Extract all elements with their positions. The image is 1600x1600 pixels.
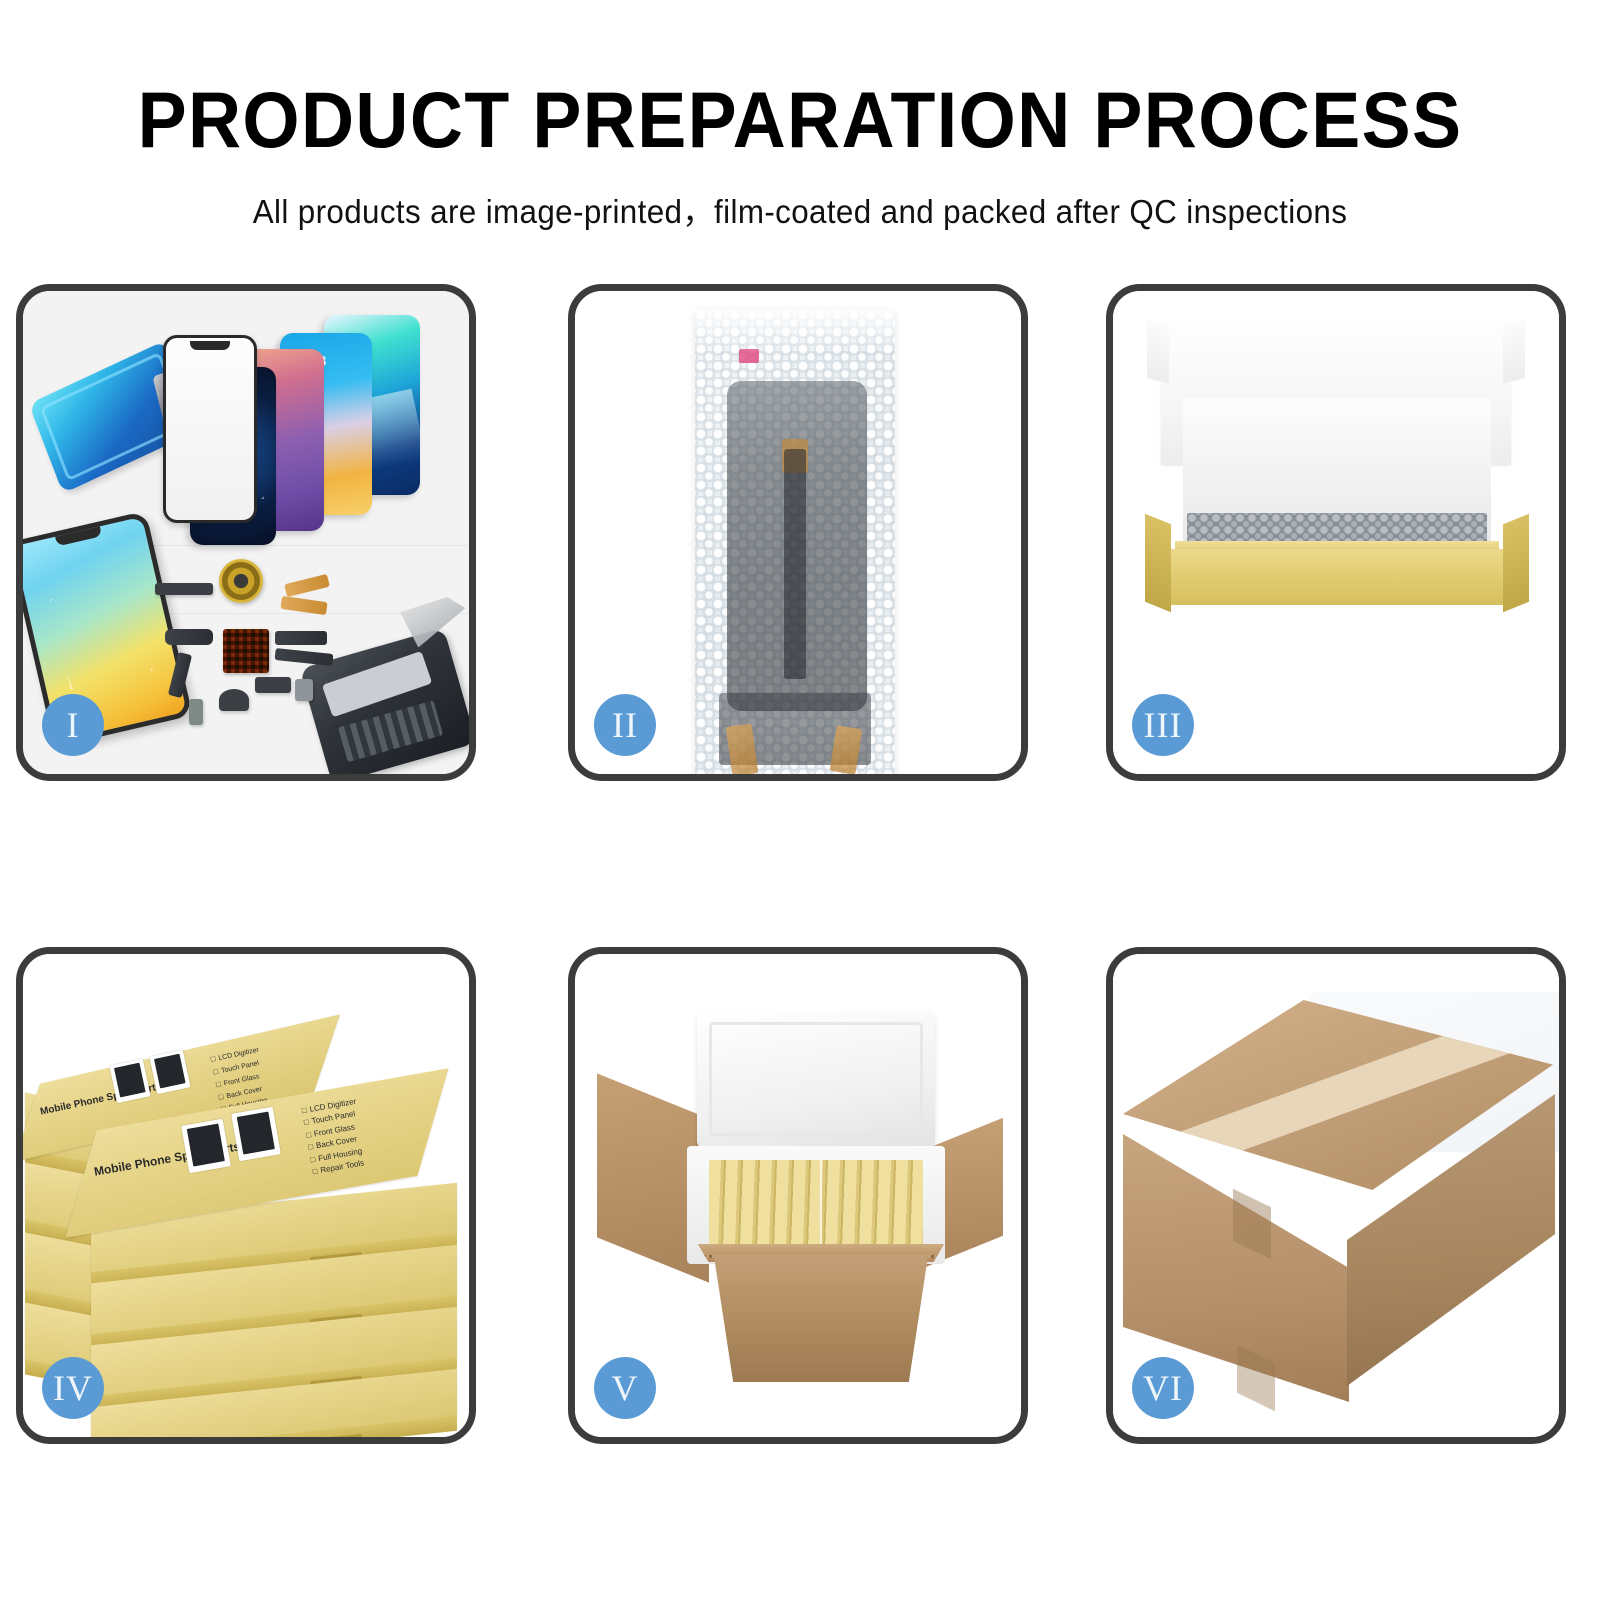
gold-contact-right-icon [830, 725, 863, 774]
plastic-sheen [695, 309, 895, 353]
steps-grid: 08:08 [16, 284, 1586, 1444]
front-glass-icon [163, 335, 257, 523]
notch-icon [190, 341, 230, 350]
box-front-wall-icon [1161, 549, 1513, 605]
power-flex-icon [275, 648, 334, 666]
page-title: PRODUCT PREPARATION PROCESS [56, 0, 1544, 159]
header: PRODUCT PREPARATION PROCESS All products… [0, 0, 1600, 233]
step-badge-4: IV [42, 1357, 104, 1419]
bubble-wrap-bag-icon [695, 309, 895, 774]
step-panel-3: III [1106, 284, 1566, 781]
step-panel-5: V [568, 947, 1028, 1444]
page-subtitle: All products are image-printed，film-coat… [40, 159, 1560, 233]
camera-module-icon [165, 629, 213, 645]
box-thumbnail [181, 1119, 231, 1174]
sim-tray-icon [189, 699, 203, 725]
flex-strip-icon [784, 449, 806, 679]
flex-cable-gold-icon [284, 574, 330, 597]
foam-lid-icon [697, 1012, 935, 1148]
step-panel-1: 08:08 [16, 284, 476, 781]
notch-icon [55, 526, 102, 546]
step-badge-5: V [594, 1357, 656, 1419]
carton-body-icon [699, 1254, 943, 1382]
speaker-bar-icon [155, 583, 213, 595]
back-housing-icon [299, 628, 469, 774]
step-panel-2: II [568, 284, 1028, 781]
step-badge-3: III [1132, 694, 1194, 756]
step-badge-6: VI [1132, 1357, 1194, 1419]
step-badge-2: II [594, 694, 656, 756]
box-thumbnail [231, 1107, 281, 1162]
earpiece-icon [219, 689, 249, 711]
crack-pattern-icon [50, 581, 153, 690]
wireless-charging-coil-icon [219, 559, 263, 603]
volume-flex-icon [275, 631, 327, 645]
packed-gold-boxes-icon [709, 1160, 923, 1248]
product-preparation-infographic: PRODUCT PREPARATION PROCESS All products… [0, 0, 1600, 1600]
step-badge-1: I [42, 694, 104, 756]
step-panel-6: VI [1106, 947, 1566, 1444]
step-panel-4: Mobile Phone Spare Parts LCD Digitizer T… [16, 947, 476, 1444]
vibration-motor-icon [295, 679, 313, 701]
ic-chip-icon [223, 629, 269, 673]
battery-connector-icon [255, 677, 291, 693]
